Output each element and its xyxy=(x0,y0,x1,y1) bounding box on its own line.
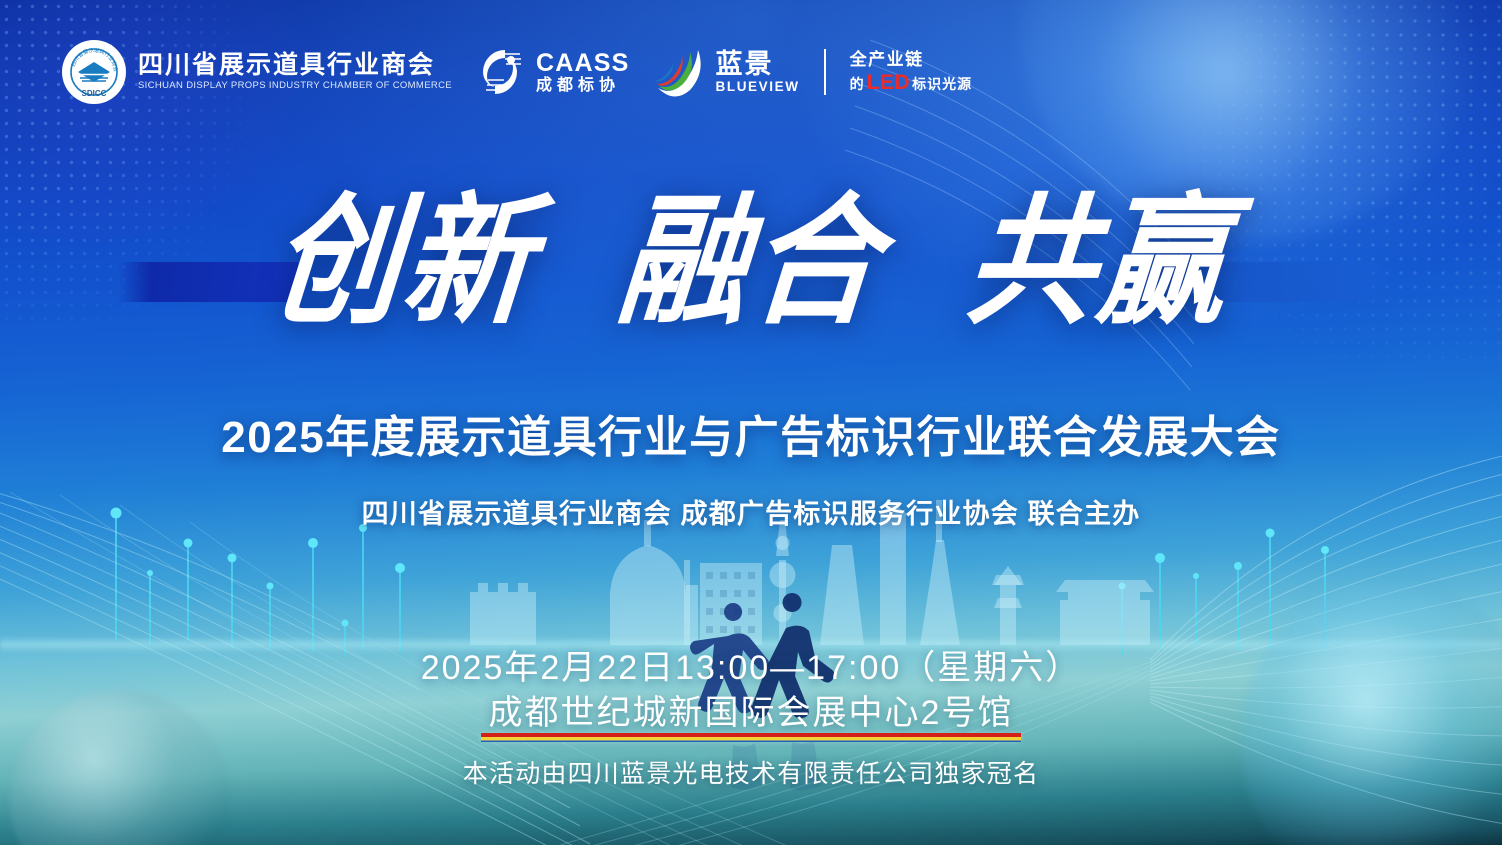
title-sponsor-line: 本活动由四川蓝景光电技术有限责任公司独家冠名 xyxy=(0,760,1502,789)
blueview-en-name: BLUEVIEW xyxy=(716,80,800,94)
blueview-tagline: 全产业链 的 LED 标识光源 xyxy=(850,51,973,93)
caass-text: CAASS 成都标协 xyxy=(536,51,630,94)
sdicc-mark-label: SDICC xyxy=(82,89,107,98)
sdicc-en-name: SICHUAN DISPLAY PROPS INDUSTRY CHAMBER O… xyxy=(138,81,452,91)
logo-sdicc: SDICC 四川省展示道具行业商会 四川省展示道具行业商会 SICHUAN DI… xyxy=(62,40,452,104)
blueview-mark-svg xyxy=(652,46,706,98)
headline-word-2: 融合 xyxy=(591,190,910,331)
blueview-cn-name: 蓝景 xyxy=(716,51,800,79)
tricolor-divider xyxy=(481,733,1021,742)
caass-en-name: CAASS xyxy=(536,51,630,76)
blueview-text: 蓝景 BLUEVIEW xyxy=(716,51,800,93)
blueview-tagline-line1: 全产业链 xyxy=(850,51,973,68)
event-datetime: 2025年2月22日13:00—17:00（星期六） xyxy=(0,649,1502,688)
headline-slogan: 创新 融合 共赢 xyxy=(0,198,1502,324)
event-title: 2025年度展示道具行业与广告标识行业联合发展大会 xyxy=(0,414,1502,462)
sdicc-mark-svg: SDICC 四川省展示道具行业商会 xyxy=(62,40,126,104)
caass-mark-icon xyxy=(474,46,526,98)
logo-caass: CAASS 成都标协 xyxy=(474,46,630,98)
caass-mark-svg xyxy=(474,46,526,98)
blueview-tagline-suffix: 标识光源 xyxy=(912,77,972,91)
organizers-line: 四川省展示道具行业商会 成都广告标识服务行业协会 联合主办 xyxy=(0,500,1502,530)
caass-cn-name: 成都标协 xyxy=(536,78,630,94)
blueview-mark-icon xyxy=(652,46,706,98)
headline-word-1: 创新 xyxy=(244,190,563,331)
logo-row: SDICC 四川省展示道具行业商会 四川省展示道具行业商会 SICHUAN DI… xyxy=(62,40,972,104)
conference-banner: SDICC 四川省展示道具行业商会 四川省展示道具行业商会 SICHUAN DI… xyxy=(0,0,1502,845)
blueview-led-text: LED xyxy=(867,72,911,93)
blueview-tagline-prefix: 的 xyxy=(850,77,865,91)
sdicc-seal-icon: SDICC 四川省展示道具行业商会 xyxy=(62,40,126,104)
headline-word-3: 共赢 xyxy=(939,190,1258,331)
blueview-tagline-line2: 的 LED 标识光源 xyxy=(850,72,973,93)
logo-blueview: 蓝景 BLUEVIEW 全产业链 的 LED 标识光源 xyxy=(652,46,973,98)
blueview-divider xyxy=(824,49,826,95)
sdicc-text: 四川省展示道具行业商会 SICHUAN DISPLAY PROPS INDUST… xyxy=(138,53,452,91)
event-venue: 成都世纪城新国际会展中心2号馆 xyxy=(0,694,1502,733)
sdicc-cn-name: 四川省展示道具行业商会 xyxy=(138,53,452,78)
